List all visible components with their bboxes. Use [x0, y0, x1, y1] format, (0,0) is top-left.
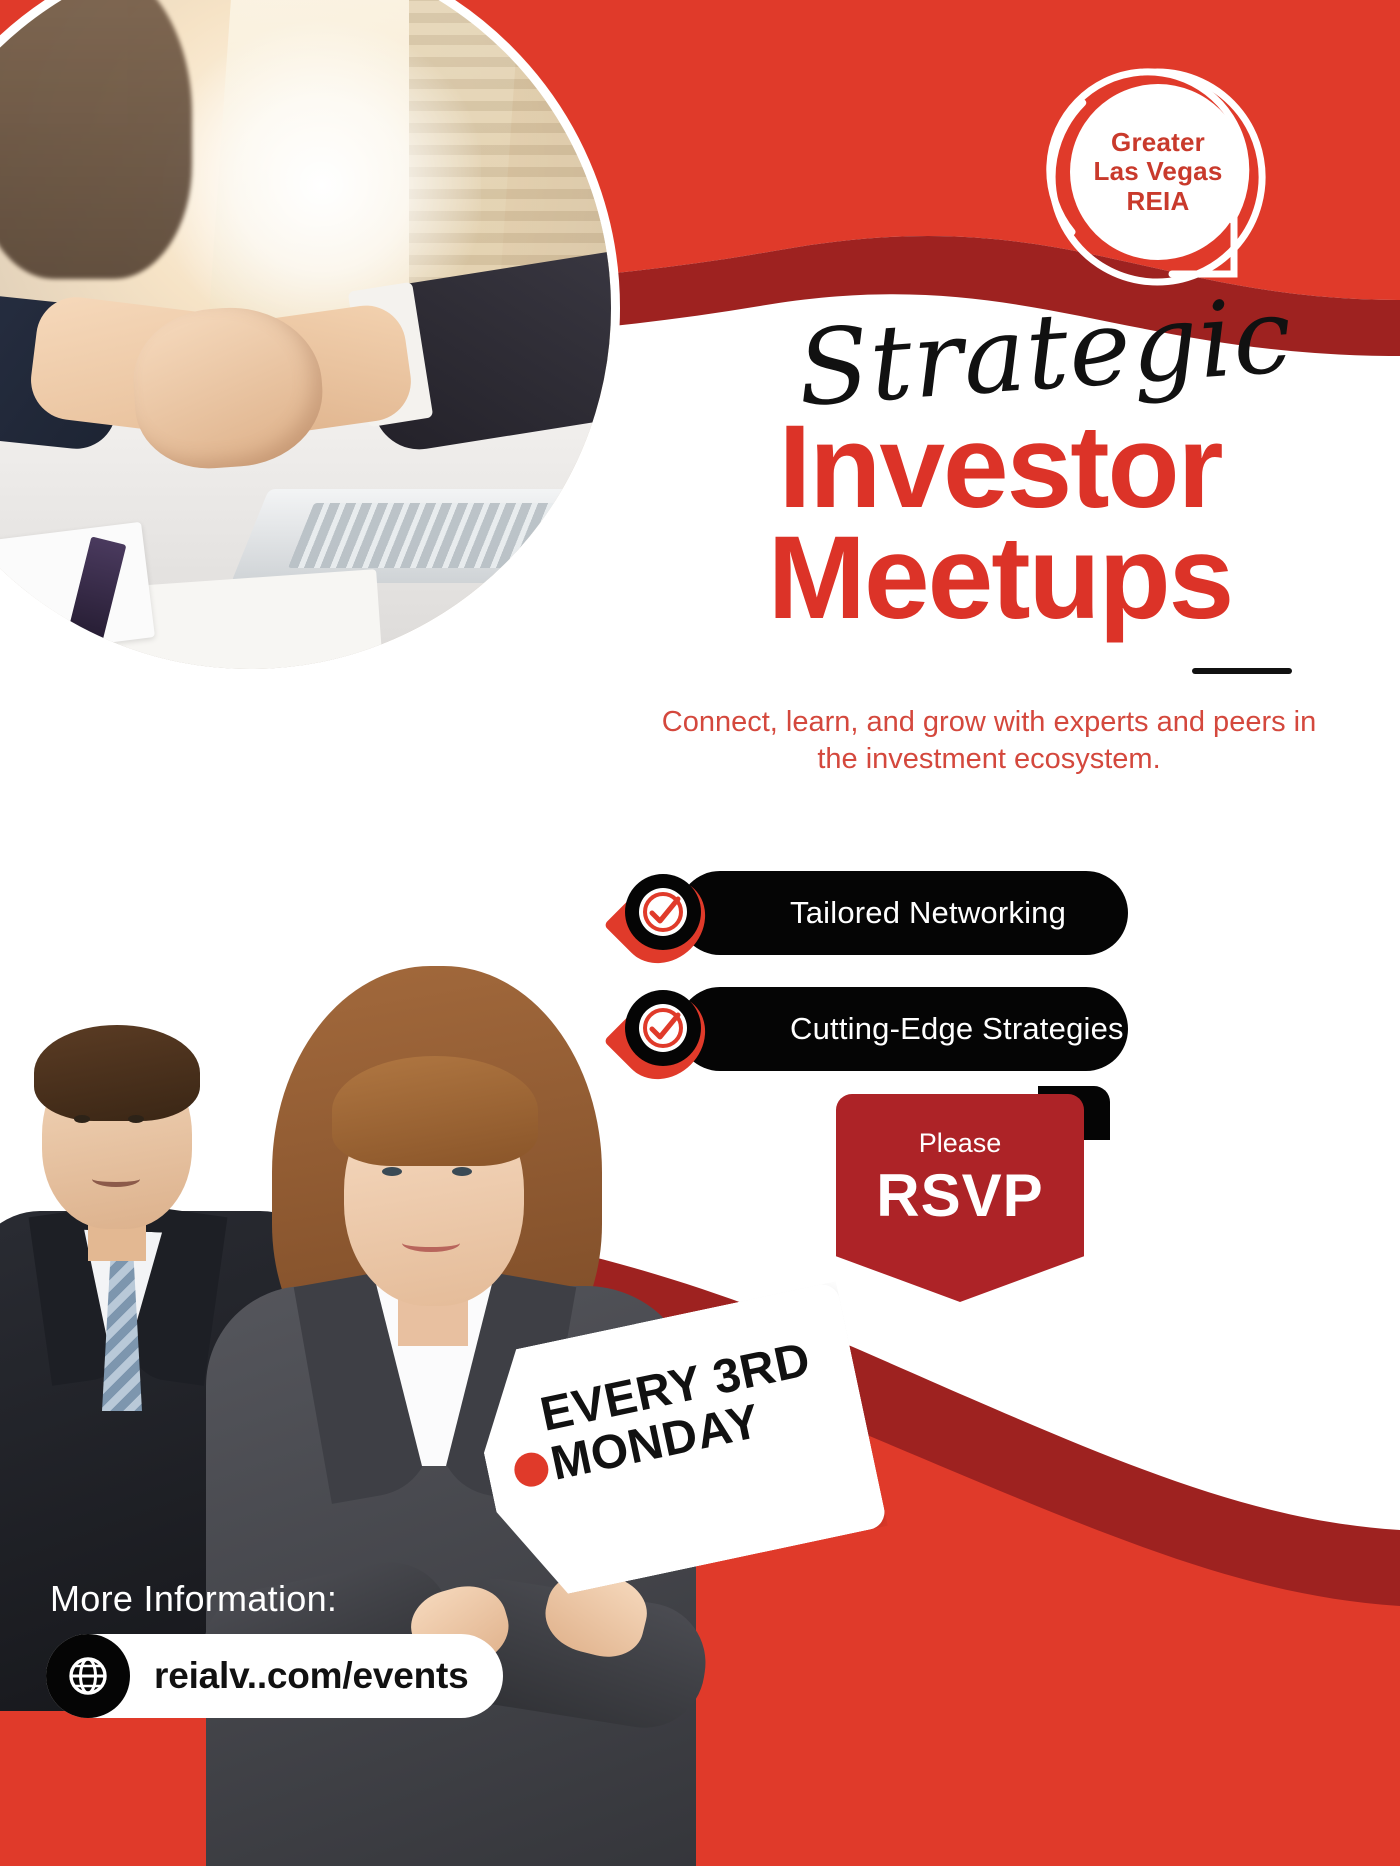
- feature-label: Tailored Networking: [790, 895, 1066, 931]
- script-word: Strategic: [727, 278, 1363, 426]
- logo-line-3: REIA: [1094, 187, 1223, 216]
- logo-circle: Greater Las Vegas REIA: [1070, 84, 1246, 260]
- rsvp-label: RSVP: [876, 1161, 1043, 1230]
- headline-line-2: Meetups: [640, 523, 1360, 634]
- rsvp-ribbon: Please RSVP: [836, 1094, 1084, 1302]
- divider: [1192, 668, 1292, 674]
- feature-pill-bar: Tailored Networking: [678, 871, 1128, 955]
- feature-pill-bar: Cutting-Edge Strategies: [678, 987, 1128, 1071]
- globe-glyph: [64, 1652, 112, 1700]
- feature-pill[interactable]: Tailored Networking: [608, 865, 1128, 961]
- headline-block: Strategic Investor Meetups Connect, lear…: [640, 300, 1360, 778]
- feature-label: Cutting-Edge Strategies: [790, 1011, 1124, 1047]
- flyer-canvas: usiness start up: [0, 0, 1400, 1866]
- logo-line-2: Las Vegas: [1094, 157, 1223, 186]
- globe-icon: [46, 1634, 130, 1718]
- tagline: Connect, learn, and grow with experts an…: [640, 704, 1360, 778]
- logo-line-1: Greater: [1094, 128, 1223, 157]
- feature-list: Tailored Networking Cutting-Edge Strateg…: [608, 865, 1128, 1097]
- more-information-label: More Information:: [50, 1578, 337, 1620]
- feature-pill[interactable]: Cutting-Edge Strategies: [608, 981, 1128, 1077]
- page-title: Investor Meetups: [640, 412, 1360, 634]
- website-url: reialv..com/events: [154, 1655, 469, 1697]
- check-glyph: [637, 886, 689, 938]
- reia-logo[interactable]: Greater Las Vegas REIA: [1042, 62, 1272, 292]
- check-circle-icon: [614, 981, 712, 1093]
- rsvp-badge[interactable]: Please RSVP: [836, 1086, 1110, 1316]
- website-chip[interactable]: reialv..com/events: [46, 1634, 503, 1718]
- check-glyph: [637, 1002, 689, 1054]
- check-circle-icon: [614, 865, 712, 977]
- rsvp-pre-label: Please: [919, 1128, 1002, 1159]
